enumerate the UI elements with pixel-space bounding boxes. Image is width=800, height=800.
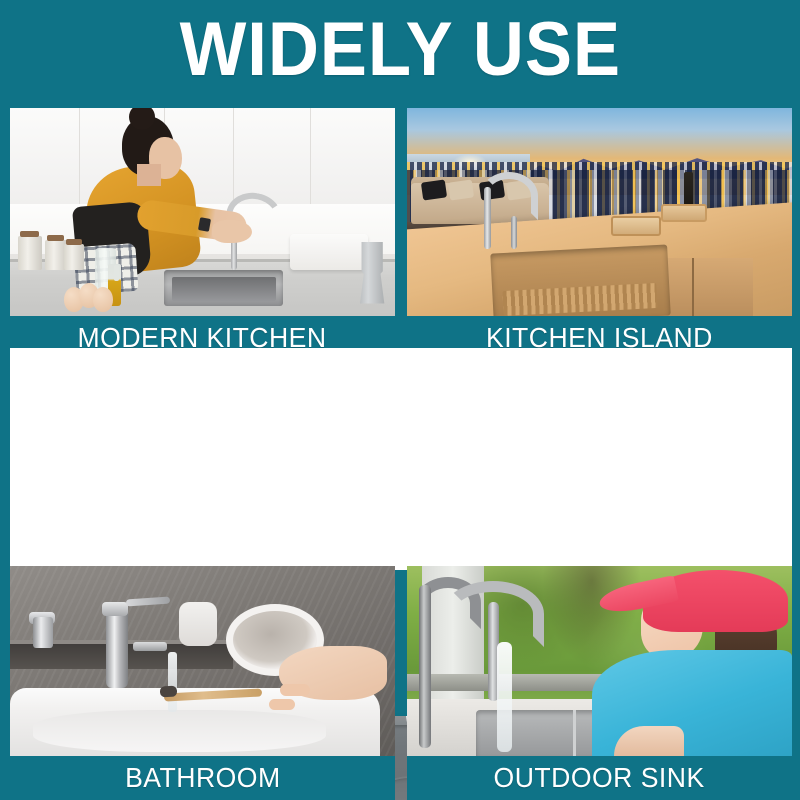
toaster (290, 234, 368, 270)
soap-dispenser (511, 216, 517, 249)
basin-bowl (33, 710, 326, 752)
spice-jar (64, 244, 84, 270)
photo-kitchen-island (407, 108, 792, 316)
water-stream (168, 652, 177, 713)
egg (93, 287, 113, 312)
rolled-towel (179, 602, 217, 646)
wristwatch (198, 217, 211, 232)
photo-bathroom (10, 566, 395, 756)
spice-jar (18, 236, 42, 270)
water-stream (497, 642, 512, 752)
faucet-head (102, 602, 128, 616)
photo-outdoor-sink (407, 566, 792, 756)
cabinet-seam (310, 108, 311, 204)
sink-divider (573, 710, 576, 756)
kitchen-island-scene (407, 108, 792, 316)
cabinet-seam (79, 108, 80, 204)
faucet-neck (484, 187, 491, 249)
modern-kitchen-scene (10, 108, 395, 316)
panel-kitchen-island: KITCHEN ISLAND (407, 108, 792, 360)
caption-outdoor-sink: OUTDOOR SINK (407, 756, 792, 800)
page-title: WIDELY USE (179, 12, 620, 88)
serving-tray (661, 204, 707, 222)
caption-bathroom: BATHROOM (10, 756, 395, 800)
olive-oil-neck (114, 265, 119, 281)
cabinet-seam (692, 258, 694, 316)
bathroom-faucet-body (106, 608, 128, 688)
cabinet-seam (233, 108, 234, 204)
second-faucet (33, 617, 53, 647)
panel-modern-kitchen: MODERN KITCHEN (10, 108, 395, 360)
finger (280, 684, 310, 696)
poster-title-bar: WIDELY USE (0, 0, 800, 100)
sofa-pillow (448, 179, 474, 200)
kitchen-upper-cabinets (10, 108, 395, 204)
caption-label: OUTDOOR SINK (494, 762, 705, 794)
serving-tray (611, 216, 661, 236)
product-band (10, 348, 792, 570)
caption-label: BATHROOM (125, 762, 281, 794)
poster-canvas: WIDELY USE (0, 0, 800, 800)
panel-bathroom: BATHROOM (10, 566, 395, 800)
panel-outdoor-sink: OUTDOOR SINK (407, 566, 792, 800)
faucet-spout (133, 642, 167, 651)
sink-basin (172, 277, 276, 302)
photo-modern-kitchen (10, 108, 395, 316)
woman-hand (212, 220, 252, 243)
finger (269, 699, 295, 710)
standpipe (419, 585, 431, 748)
bathroom-scene (10, 566, 395, 756)
toothbrush-head (160, 685, 178, 697)
outdoor-sink-scene (407, 566, 792, 756)
sofa-pillow (421, 179, 447, 200)
woman-neck (137, 164, 161, 186)
